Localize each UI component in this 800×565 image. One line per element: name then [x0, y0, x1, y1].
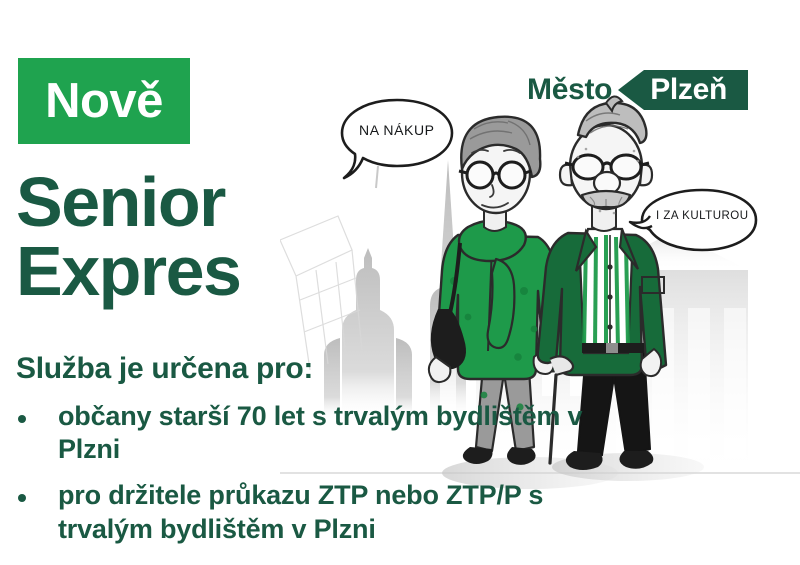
logo-arrow-tag: Plzeň	[618, 70, 741, 110]
title-line-1: Senior	[16, 163, 225, 241]
list-item: občany starší 70 let s trvalým bydlištěm…	[10, 400, 610, 466]
speech-bubble-2-text: I ZA KULTUROU	[656, 210, 749, 222]
logo-plzen-word: Plzeň	[618, 73, 741, 107]
nove-badge: Nově	[18, 58, 190, 144]
title-line-2: Expres	[16, 237, 436, 306]
logo-mesto-word: Město	[527, 73, 612, 107]
poster-root: NA NÁKUP I ZA KULTUROU Nově Senior Expre…	[0, 0, 800, 565]
nove-badge-label: Nově	[45, 77, 163, 126]
speech-bubble-i-za-kulturou: I ZA KULTUROU	[640, 188, 760, 266]
eligibility-list: občany starší 70 let s trvalým bydlištěm…	[10, 400, 610, 559]
list-item: pro držitele průkazu ZTP nebo ZTP/P s tr…	[10, 479, 610, 545]
speech-bubble-1-text: NA NÁKUP	[359, 122, 435, 138]
page-title: Senior Expres	[16, 168, 436, 305]
city-logo[interactable]: Město Plzeň	[527, 70, 741, 110]
subtitle: Služba je určena pro:	[16, 352, 313, 386]
